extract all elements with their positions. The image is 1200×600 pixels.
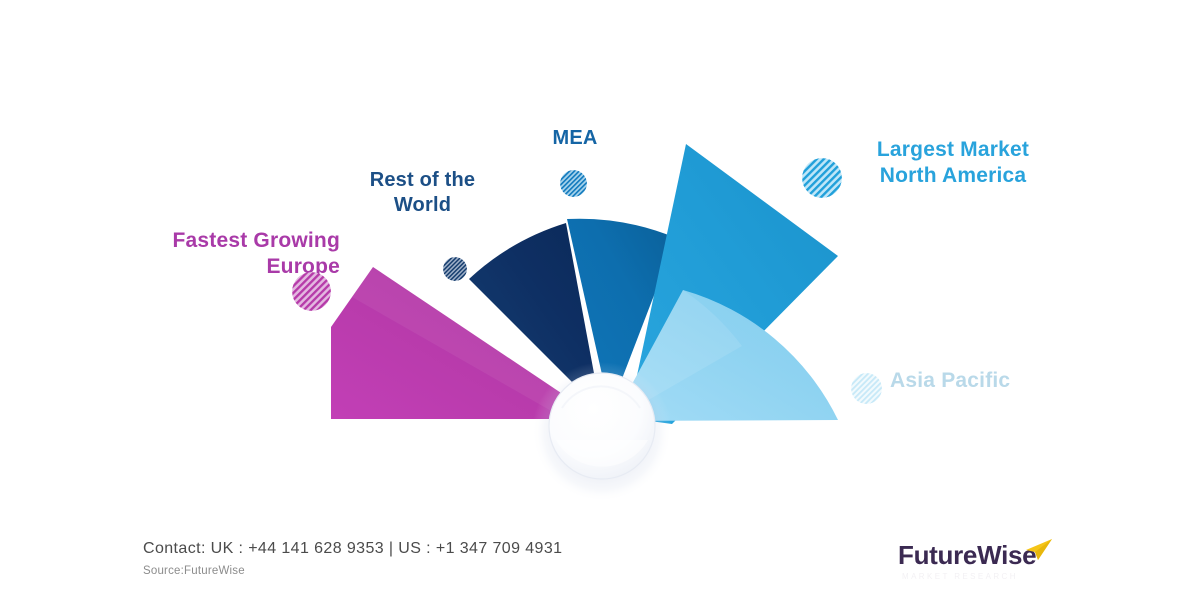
rest-of-world-hatched-dot-icon — [443, 257, 467, 281]
contact-line: Contact: UK : +44 141 628 9353 | US : +1… — [143, 540, 562, 558]
futurewise-logo[interactable]: FutureWise MARKET RESEARCH — [898, 540, 1078, 586]
regional-fan-chart — [0, 0, 1200, 600]
footer: Contact: UK : +44 141 628 9353 | US : +1… — [0, 528, 1200, 600]
label-rest-of-world: Rest of the World — [340, 168, 505, 218]
infographic-stage: Fastest Growing Europe Rest of the World… — [0, 0, 1200, 600]
europe-hatched-dot-icon — [292, 272, 331, 311]
label-mea: MEA — [505, 126, 645, 151]
chart-center-hub — [532, 362, 672, 502]
asia-pacific-hatched-dot-icon — [851, 373, 882, 404]
logo-wordmark: FutureWise — [898, 540, 1036, 571]
north-america-hatched-dot-icon — [802, 158, 842, 198]
source-line: Source:FutureWise — [143, 565, 245, 577]
label-north-america: Largest Market North America — [848, 137, 1058, 190]
mea-hatched-dot-icon — [560, 170, 587, 197]
label-asia-pacific: Asia Pacific — [890, 368, 1065, 394]
logo-tagline: MARKET RESEARCH — [902, 572, 1018, 581]
paper-plane-icon — [1024, 538, 1054, 562]
